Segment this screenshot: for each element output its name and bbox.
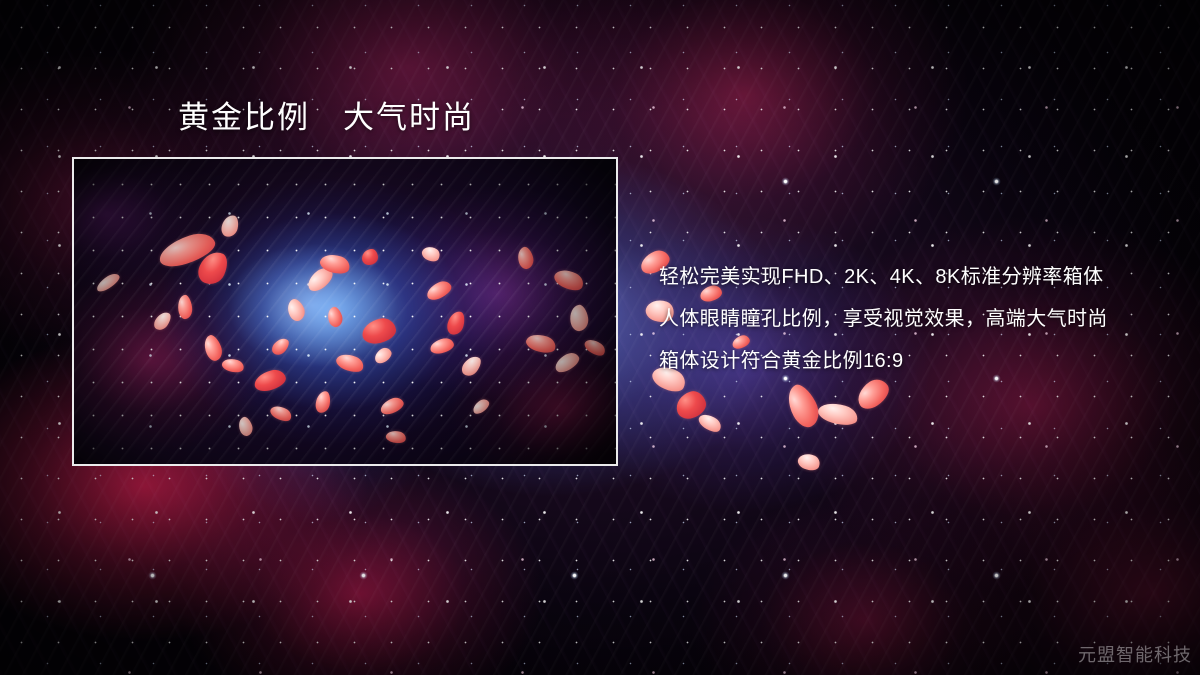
- preview-image: [74, 159, 616, 464]
- rose-petal: [673, 388, 709, 421]
- preview-vignette: [74, 159, 616, 464]
- presentation-slide: 黄金比例 大气时尚: [0, 0, 1200, 675]
- watermark-text: 元盟智能科技: [1078, 641, 1192, 667]
- description-line: 轻松完美实现FHD、2K、4K、8K标准分辨率箱体: [659, 256, 1179, 298]
- rose-petal: [696, 410, 724, 435]
- page-title: 黄金比例 大气时尚: [178, 99, 475, 136]
- rose-petal: [816, 399, 860, 429]
- description-text-block: 轻松完美实现FHD、2K、4K、8K标准分辨率箱体 人体眼睛瞳孔比例，享受视觉效…: [659, 256, 1179, 382]
- description-line: 人体眼睛瞳孔比例，享受视觉效果，高端大气时尚: [659, 298, 1179, 340]
- description-line: 箱体设计符合黄金比例16:9: [659, 340, 1179, 382]
- preview-image-frame: [72, 157, 618, 466]
- rose-petal: [796, 450, 822, 473]
- rose-petal: [781, 380, 825, 431]
